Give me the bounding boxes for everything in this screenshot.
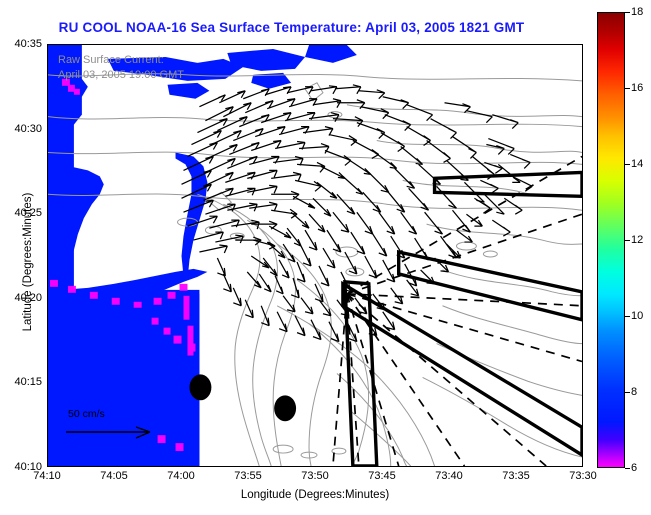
figure-title: RU COOL NOAA-16 Sea Surface Temperature:…	[0, 20, 583, 35]
station-marker-east	[274, 395, 296, 421]
cbtick-3: 12	[631, 234, 643, 246]
xtick-1: 74:05	[100, 470, 128, 482]
cbtick-5: 16	[631, 82, 643, 94]
ytick-0: 40:10	[0, 461, 42, 473]
xtick-2: 74:00	[167, 470, 195, 482]
cbtick-6: 18	[631, 6, 643, 18]
colorbar-gradient	[598, 13, 624, 467]
map-canvas: Raw Surface Current: April 03, 2005 19:0…	[48, 45, 582, 466]
map-plot-area[interactable]: Raw Surface Current: April 03, 2005 19:0…	[47, 44, 583, 467]
ytick-1: 40:15	[0, 376, 42, 388]
xtick-5: 73:45	[368, 470, 396, 482]
scale-vector-legend: 50 cm/s	[62, 408, 182, 444]
ytick-3: 40:25	[0, 207, 42, 219]
cbtick-1: 8	[631, 386, 637, 398]
cbtick-0: 6	[631, 462, 637, 474]
ytick-5: 40:35	[0, 38, 42, 50]
xtick-6: 73:40	[435, 470, 463, 482]
ytick-4: 40:30	[0, 123, 42, 135]
xtick-7: 73:35	[502, 470, 530, 482]
x-axis-label: Longitude (Degrees:Minutes)	[47, 489, 583, 501]
map-graphics	[48, 45, 582, 466]
ytick-2: 40:20	[0, 292, 42, 304]
cbtick-4: 14	[631, 158, 643, 170]
cbtick-2: 10	[631, 310, 643, 322]
sst-map-figure: RU COOL NOAA-16 Sea Surface Temperature:…	[0, 0, 651, 515]
y-axis-label: Latitude (Degrees:Minutes)	[22, 172, 34, 352]
xtick-3: 73:55	[234, 470, 262, 482]
scale-vector-label: 50 cm/s	[68, 408, 105, 420]
station-marker-west	[189, 374, 211, 400]
colorbar	[597, 12, 625, 468]
xtick-4: 73:50	[301, 470, 329, 482]
xtick-8: 73:30	[569, 470, 597, 482]
